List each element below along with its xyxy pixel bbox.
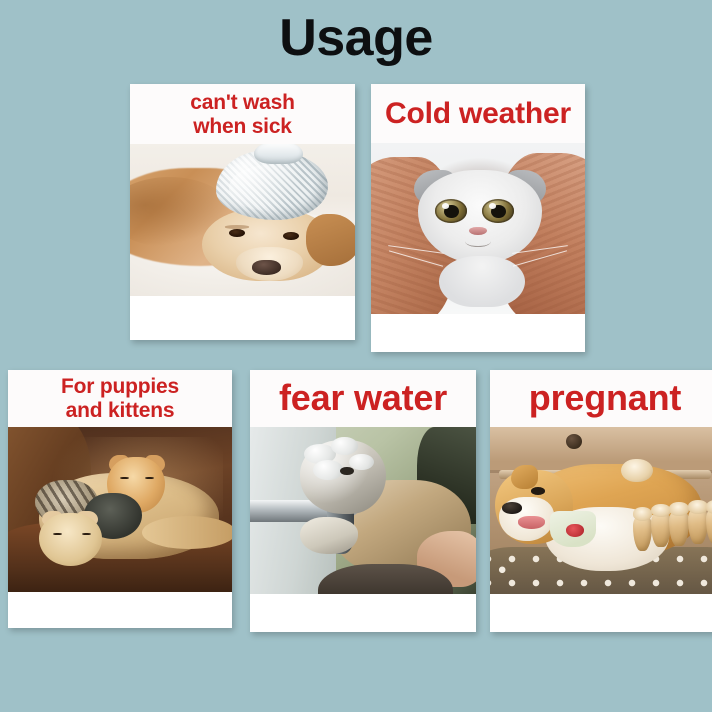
usage-card-cold[interactable]: Cold weather (371, 84, 585, 352)
usage-card-puppies[interactable]: For puppies and kittens (8, 370, 232, 628)
kitten-eye (82, 533, 91, 536)
cat-mouth-shape (465, 235, 491, 246)
card-caption-cold: Cold weather (371, 84, 585, 143)
corgi-nursing-illustration (490, 427, 712, 594)
usage-card-fear-water[interactable]: fear water (250, 370, 476, 632)
cat-chest-shape (439, 256, 525, 307)
page-title: Usage (0, 8, 712, 68)
card-footer-sick (130, 296, 355, 340)
nursing-puppy-head (669, 502, 689, 515)
dog-nose-shape (252, 260, 281, 275)
card-photo-puppies (8, 427, 232, 592)
corgi-eye-shape (531, 487, 545, 495)
kitten-pile-illustration (8, 427, 232, 592)
card-photo-sick (130, 144, 355, 296)
card-caption-pregnant: pregnant (490, 370, 712, 427)
card-photo-fear-water (250, 427, 476, 594)
drawer-knob-shape (566, 434, 582, 449)
usage-card-pregnant[interactable]: pregnant (490, 370, 712, 632)
ice-bag-highlight (229, 165, 310, 211)
card-footer-cold (371, 314, 585, 352)
card-photo-pregnant (490, 427, 712, 594)
card-footer-puppies (8, 592, 232, 628)
kitten-cream-shape (39, 513, 102, 566)
cat-eye-glint-right (489, 203, 496, 209)
card-caption-sick: can't wash when sick (130, 84, 355, 144)
cat-eye-glint-left (442, 203, 449, 209)
usage-poster: Usage can't wash when sick Co (0, 0, 712, 712)
ice-bag-cap (254, 144, 304, 164)
corgi-tongue-shape (518, 516, 546, 529)
nursing-puppy-head (633, 507, 653, 520)
wet-dog-paw-shape (300, 517, 359, 554)
kitten-eye (145, 477, 154, 480)
card-footer-pregnant (490, 594, 712, 632)
corgi-nose-shape (502, 502, 523, 514)
puppy-on-back (621, 459, 653, 482)
cold-cat-illustration (371, 143, 585, 314)
dog-ear-shape (306, 214, 356, 266)
mother-cat-tail (142, 516, 232, 549)
dog-eye-right (283, 232, 299, 240)
dog-eye-left (229, 229, 245, 237)
card-photo-cold (371, 143, 585, 314)
kitten-eye (120, 477, 129, 480)
nursing-puppy-head (688, 500, 708, 513)
sick-dog-illustration (130, 144, 355, 296)
card-caption-puppies: For puppies and kittens (8, 370, 232, 427)
card-caption-fear-water: fear water (250, 370, 476, 427)
usage-card-sick[interactable]: can't wash when sick (130, 84, 355, 340)
card-footer-fear-water (250, 594, 476, 632)
nursing-puppy-head (651, 504, 671, 517)
kitten-eye (53, 533, 62, 536)
corgi-ear-shape (511, 465, 539, 488)
dog-bath-illustration (250, 427, 476, 594)
